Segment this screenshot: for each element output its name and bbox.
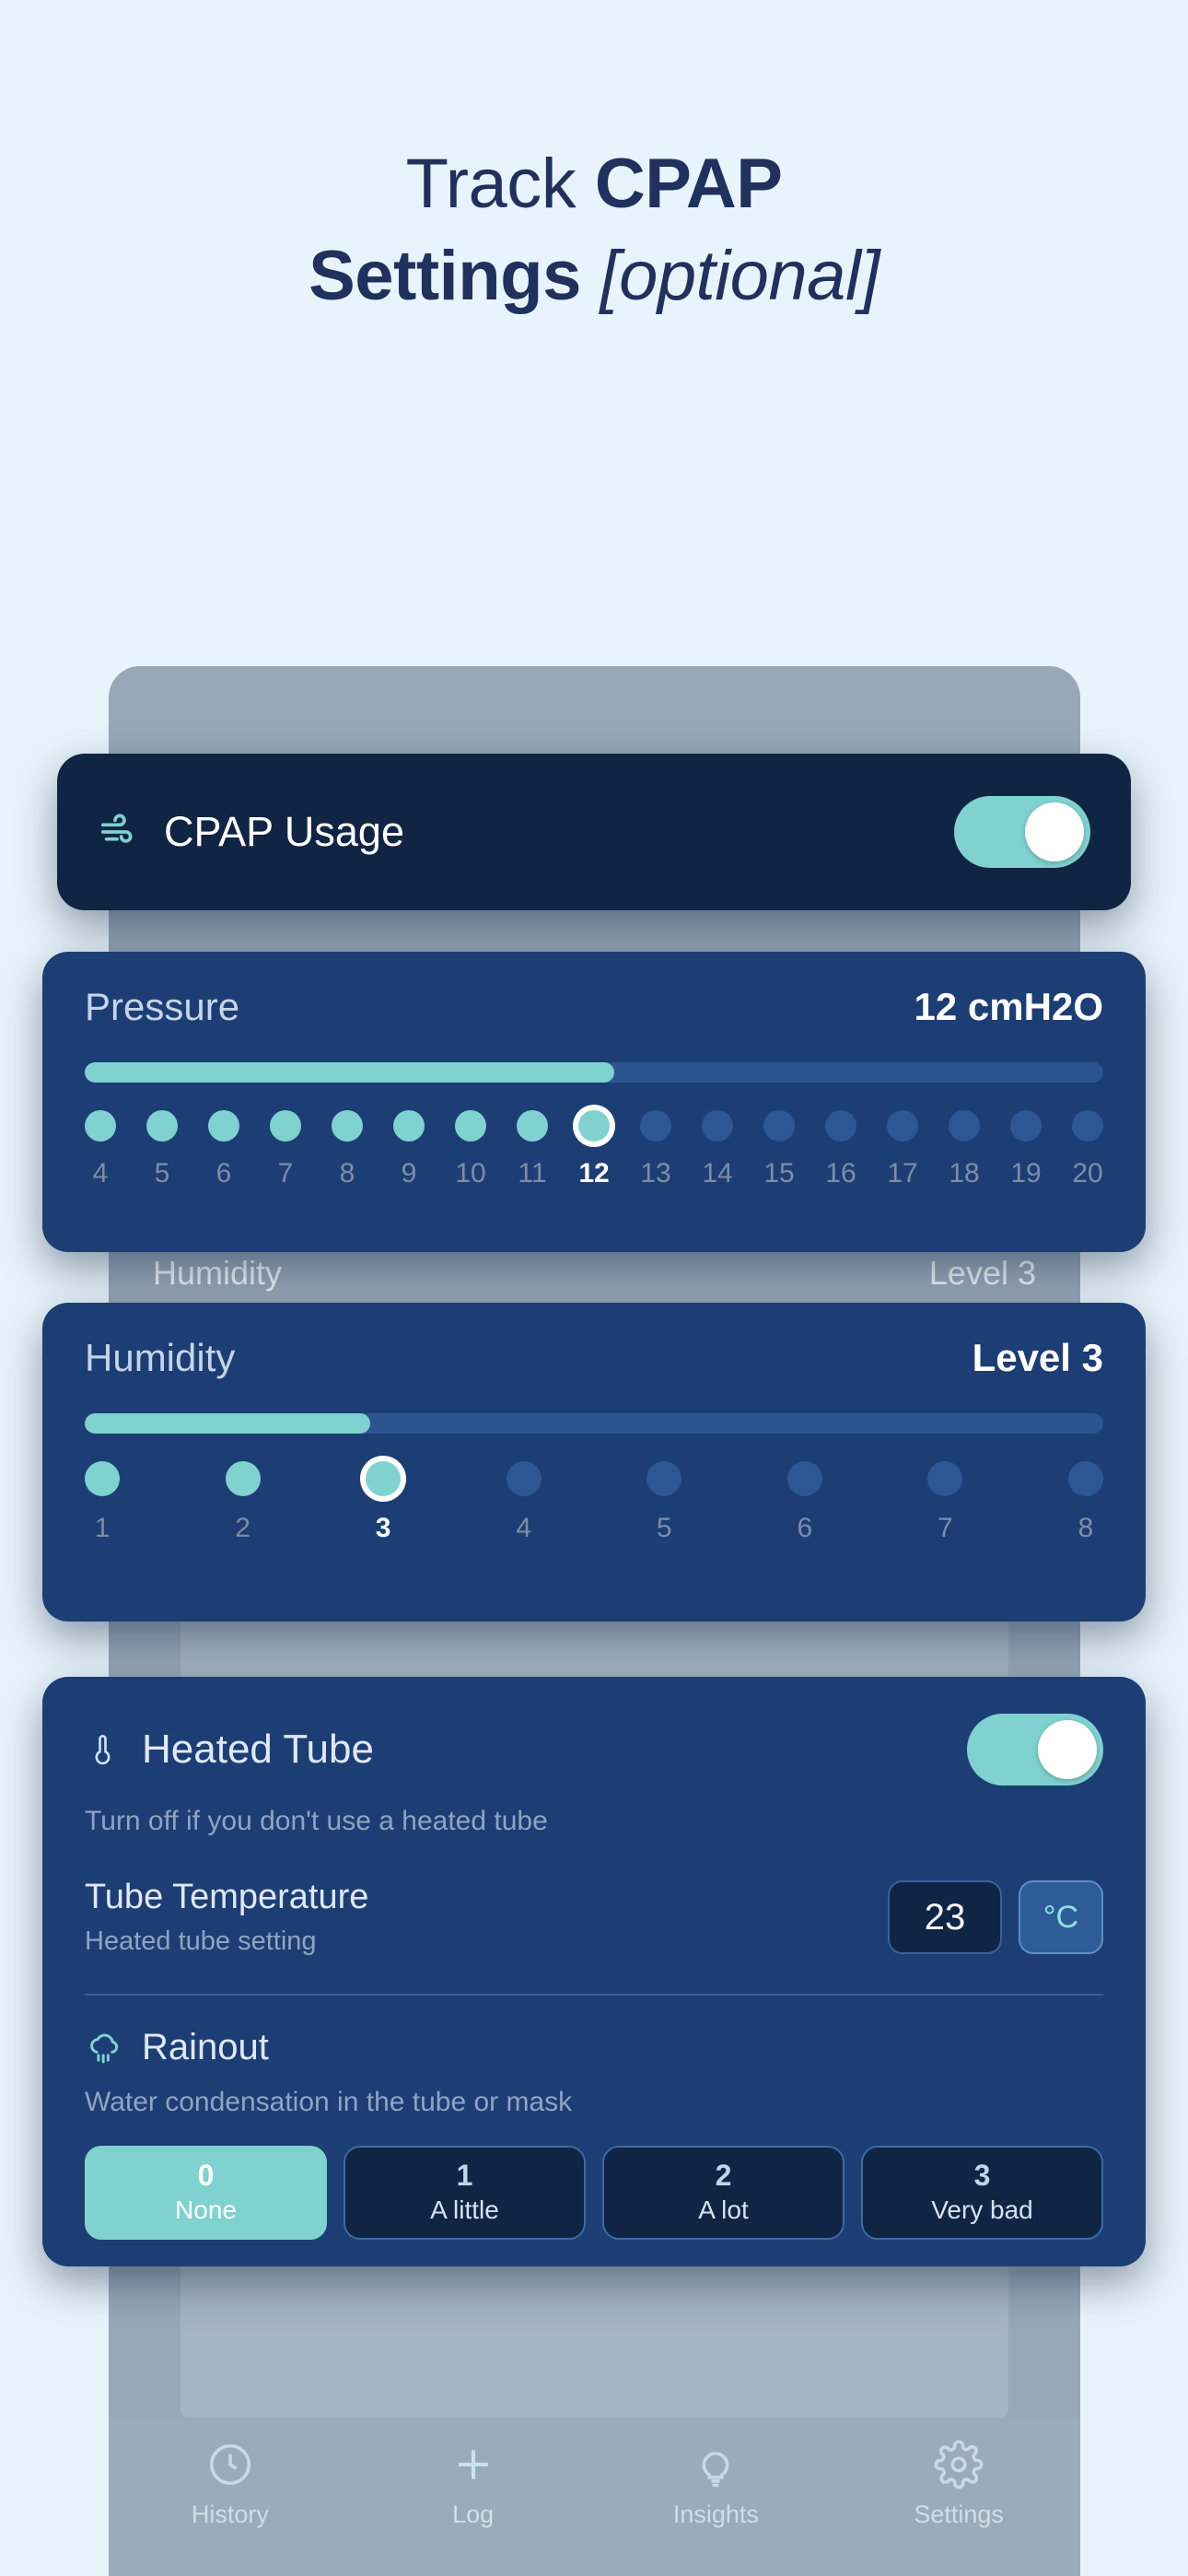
rainout-option-label: Very bad: [931, 2195, 1033, 2225]
tick-18[interactable]: 18: [949, 1110, 980, 1189]
tick-label: 6: [216, 1158, 232, 1189]
rainout-option-label: None: [175, 2195, 237, 2225]
humidity-tick-row[interactable]: 12345678: [85, 1461, 1103, 1544]
tick-17[interactable]: 17: [887, 1110, 918, 1189]
tick-label: 12: [578, 1158, 609, 1189]
tick-dot: [949, 1110, 980, 1142]
tick-dot: [366, 1461, 401, 1496]
cloud-rain-icon: [85, 2029, 123, 2067]
tick-dot: [825, 1110, 856, 1142]
tick-dot: [517, 1110, 548, 1142]
tick-label: 5: [657, 1513, 672, 1544]
tick-dot: [787, 1461, 822, 1496]
tick-4[interactable]: 4: [85, 1110, 116, 1189]
tick-label: 7: [938, 1513, 953, 1544]
heated-tube-header: Heated Tube: [85, 1714, 1103, 1786]
tick-dot: [85, 1461, 120, 1496]
tick-label: 7: [278, 1158, 294, 1189]
section-divider: [85, 1994, 1103, 1996]
tick-label: 14: [702, 1158, 732, 1189]
tick-13[interactable]: 13: [640, 1110, 671, 1189]
tick-dot: [455, 1110, 486, 1142]
rainout-option-0[interactable]: 0None: [85, 2146, 327, 2240]
humidity-title: Humidity: [85, 1336, 235, 1380]
rainout-option-3[interactable]: 3Very bad: [861, 2146, 1103, 2240]
title-word-cpap: CPAP: [595, 145, 783, 223]
rainout-option-label: A little: [430, 2195, 499, 2225]
tick-5[interactable]: 5: [146, 1110, 178, 1189]
tick-6[interactable]: 6: [787, 1461, 822, 1544]
pressure-slider-fill: [85, 1062, 614, 1083]
rainout-option-number: 3: [974, 2160, 991, 2192]
tick-8[interactable]: 8: [1068, 1461, 1103, 1544]
tick-dot: [393, 1110, 425, 1142]
humidity-slider-track[interactable]: [85, 1413, 1103, 1434]
tick-label: 9: [402, 1158, 417, 1189]
tick-dot: [208, 1110, 239, 1142]
tick-4[interactable]: 4: [507, 1461, 542, 1544]
tick-dot: [226, 1461, 261, 1496]
tick-label: 16: [825, 1158, 856, 1189]
tick-5[interactable]: 5: [646, 1461, 681, 1544]
pressure-header: Pressure 12 cmH2O: [85, 985, 1103, 1029]
tick-7[interactable]: 7: [270, 1110, 301, 1189]
pressure-slider-track[interactable]: [85, 1062, 1103, 1083]
tick-9[interactable]: 9: [393, 1110, 425, 1189]
tab-log[interactable]: Log: [352, 2440, 595, 2529]
tick-15[interactable]: 15: [763, 1110, 795, 1189]
humidity-slider-fill: [85, 1413, 370, 1434]
rainout-option-number: 1: [457, 2160, 473, 2192]
tick-label: 17: [887, 1158, 917, 1189]
tick-label: 3: [376, 1513, 391, 1544]
tick-label: 8: [1078, 1513, 1094, 1544]
tick-label: 6: [797, 1513, 812, 1544]
toggle-knob: [1025, 802, 1084, 861]
tab-history-label: History: [109, 2500, 352, 2529]
tick-label: 13: [640, 1158, 670, 1189]
humidity-card[interactable]: Humidity Level 3 12345678: [42, 1303, 1146, 1622]
title-word-settings: Settings: [309, 237, 600, 315]
tick-label: 4: [516, 1513, 531, 1544]
tick-label: 2: [235, 1513, 250, 1544]
rainout-option-number: 0: [198, 2160, 215, 2192]
rainout-header: Rainout: [85, 2027, 1103, 2068]
tube-temperature-controls[interactable]: 23 °C: [888, 1880, 1103, 1954]
tick-dot: [1010, 1110, 1042, 1142]
tick-label: 4: [93, 1158, 109, 1189]
tick-16[interactable]: 16: [825, 1110, 856, 1189]
page-title-line-2: Settings [optional]: [0, 230, 1188, 322]
tick-label: 8: [340, 1158, 355, 1189]
tick-label: 5: [155, 1158, 170, 1189]
tick-dot: [146, 1110, 178, 1142]
heated-tube-card[interactable]: Heated Tube Turn off if you don't use a …: [42, 1677, 1146, 2266]
mock-row-humidity-value: Level 3: [929, 1254, 1036, 1293]
rainout-subtitle: Water condensation in the tube or mask: [85, 2087, 1103, 2118]
clock-icon: [109, 2440, 352, 2493]
tick-label: 15: [763, 1158, 794, 1189]
plus-icon: [352, 2440, 595, 2493]
tick-label: 19: [1010, 1158, 1041, 1189]
tick-6[interactable]: 6: [208, 1110, 239, 1189]
tick-2[interactable]: 2: [226, 1461, 261, 1544]
heated-tube-header-left: Heated Tube: [85, 1727, 374, 1773]
cpap-usage-card[interactable]: CPAP Usage: [57, 754, 1131, 910]
tick-dot: [646, 1461, 681, 1496]
rainout-title: Rainout: [142, 2027, 269, 2068]
heated-tube-subtitle: Turn off if you don't use a heated tube: [85, 1806, 1103, 1837]
tick-dot: [1068, 1461, 1103, 1496]
page-title: Track CPAP Settings [optional]: [0, 138, 1188, 323]
tab-settings-label: Settings: [837, 2500, 1080, 2529]
humidity-header: Humidity Level 3: [85, 1336, 1103, 1380]
tick-dot: [640, 1110, 671, 1142]
tick-dot: [332, 1110, 363, 1142]
tick-dot: [887, 1110, 918, 1142]
tick-11[interactable]: 11: [517, 1110, 548, 1189]
gear-icon: [837, 2440, 1080, 2493]
title-word-track: Track: [406, 145, 595, 223]
tick-10[interactable]: 10: [455, 1110, 486, 1189]
rainout-option-number: 2: [716, 2160, 732, 2192]
pressure-tick-row[interactable]: 4567891011121314151617181920: [85, 1110, 1103, 1189]
pressure-card[interactable]: Pressure 12 cmH2O 4567891011121314151617…: [42, 952, 1146, 1252]
tube-temperature-input[interactable]: 23: [888, 1880, 1002, 1954]
pressure-title: Pressure: [85, 985, 239, 1029]
humidity-value: Level 3: [973, 1336, 1103, 1380]
tick-dot: [927, 1461, 962, 1496]
tick-dot: [507, 1461, 542, 1496]
heated-tube-toggle[interactable]: [967, 1714, 1103, 1786]
tick-12[interactable]: 12: [578, 1110, 610, 1189]
tab-log-label: Log: [352, 2500, 595, 2529]
tick-label: 1: [95, 1513, 111, 1544]
tube-temperature-labels: Tube Temperature Heated tube setting: [85, 1878, 368, 1957]
cpap-usage-toggle[interactable]: [954, 796, 1090, 868]
tab-insights[interactable]: Insights: [595, 2440, 838, 2529]
page-title-line-1: Track CPAP: [0, 138, 1188, 230]
tick-dot: [578, 1110, 610, 1142]
tick-7[interactable]: 7: [927, 1461, 962, 1544]
tick-dot: [85, 1110, 116, 1142]
toggle-knob: [1038, 1720, 1097, 1779]
tick-20[interactable]: 20: [1072, 1110, 1103, 1189]
tick-8[interactable]: 8: [332, 1110, 363, 1189]
tab-settings[interactable]: Settings: [837, 2440, 1080, 2529]
pressure-value: 12 cmH2O: [914, 985, 1103, 1029]
tube-temperature-subtitle: Heated tube setting: [85, 1926, 368, 1957]
title-word-optional: [optional]: [600, 237, 879, 315]
tick-dot: [270, 1110, 301, 1142]
screenshot-root: Track CPAP Settings [optional] Log Entry…: [0, 0, 1188, 2576]
tick-dot: [763, 1110, 795, 1142]
tube-temperature-unit-toggle[interactable]: °C: [1019, 1880, 1103, 1954]
tick-label: 10: [455, 1158, 485, 1189]
rainout-option-label: A lot: [698, 2195, 748, 2225]
tick-dot: [1072, 1110, 1103, 1142]
cpap-usage-label: CPAP Usage: [164, 808, 404, 856]
lightbulb-icon: [595, 2440, 838, 2493]
rainout-option-1[interactable]: 1A little: [344, 2146, 586, 2240]
tick-19[interactable]: 19: [1010, 1110, 1042, 1189]
wind-icon: [98, 811, 140, 853]
tick-label: 18: [949, 1158, 979, 1189]
rainout-severity-row[interactable]: 0None1A little2A lot3Very bad: [85, 2146, 1103, 2240]
cpap-usage-left: CPAP Usage: [98, 808, 954, 856]
tick-label: 20: [1072, 1158, 1102, 1189]
rainout-option-2[interactable]: 2A lot: [602, 2146, 844, 2240]
bottom-tab-bar[interactable]: History Log Insights: [109, 2418, 1080, 2576]
tick-dot: [702, 1110, 733, 1142]
tick-1[interactable]: 1: [85, 1461, 120, 1544]
tick-3[interactable]: 3: [366, 1461, 401, 1544]
heated-tube-title: Heated Tube: [142, 1727, 374, 1773]
tick-14[interactable]: 14: [702, 1110, 733, 1189]
tube-temperature-title: Tube Temperature: [85, 1878, 368, 1917]
thermometer-icon: [85, 1731, 122, 1768]
mock-row-humidity-label: Humidity: [153, 1254, 282, 1293]
tab-history[interactable]: History: [109, 2440, 352, 2529]
tab-insights-label: Insights: [595, 2500, 838, 2529]
tick-label: 11: [518, 1158, 546, 1189]
tube-temperature-row[interactable]: Tube Temperature Heated tube setting 23 …: [85, 1878, 1103, 1957]
